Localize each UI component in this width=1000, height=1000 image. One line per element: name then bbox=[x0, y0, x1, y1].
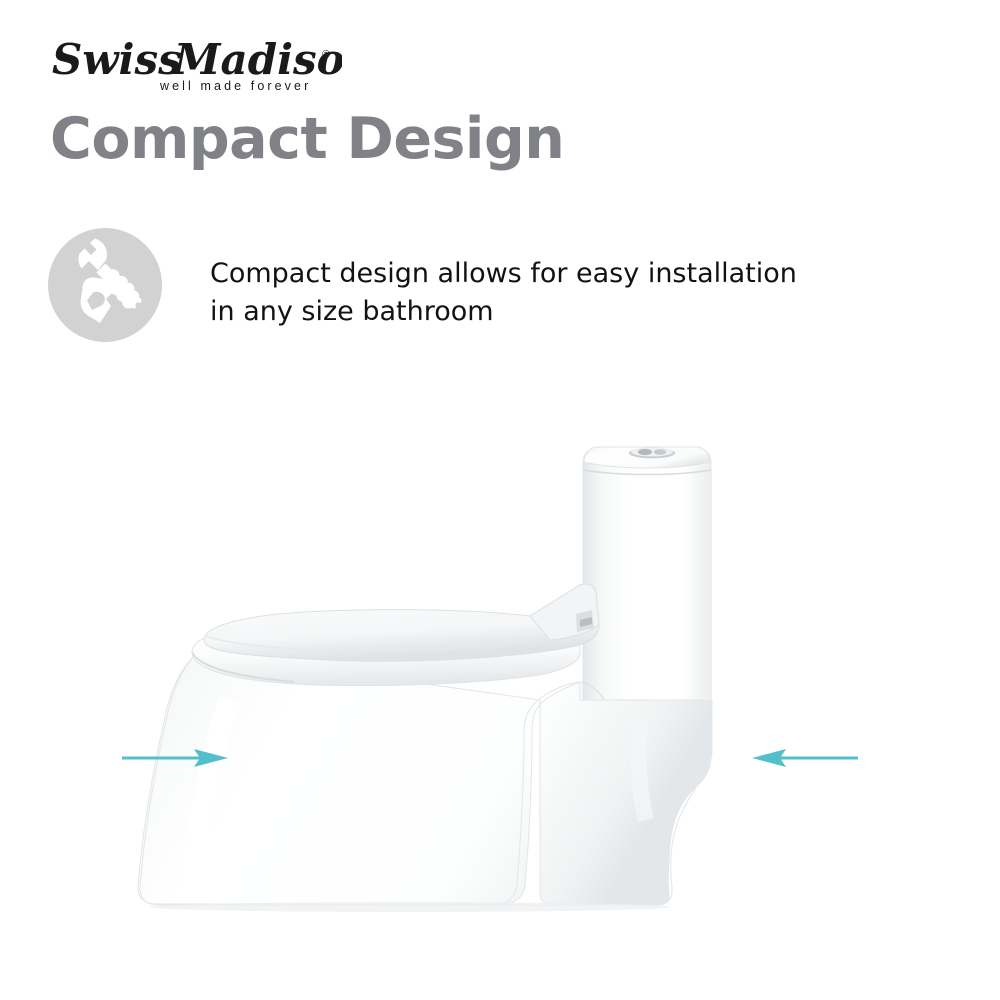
toilet-tank bbox=[583, 448, 711, 700]
brand-logo: Swiss Madison ® well made forever bbox=[52, 34, 342, 96]
feature-description: Compact design allows for easy installat… bbox=[162, 228, 797, 331]
feature-description-line-2: in any size bathroom bbox=[210, 296, 494, 327]
dimension-arrow-left bbox=[120, 744, 232, 772]
dimension-arrow-right bbox=[748, 744, 860, 772]
feature-icon-badge bbox=[48, 228, 162, 342]
registered-trademark-icon: ® bbox=[322, 49, 330, 61]
dual-flush-button[interactable] bbox=[629, 448, 675, 459]
floor-shadow bbox=[150, 902, 670, 912]
brand-name-part-1: Swiss bbox=[52, 35, 182, 84]
feature-row: Compact design allows for easy installat… bbox=[48, 228, 888, 342]
page-title: Compact Design bbox=[50, 106, 564, 172]
body-highlight-right bbox=[638, 720, 646, 820]
brand-name-part-2: Madison bbox=[172, 35, 342, 84]
feature-description-line-1: Compact design allows for easy installat… bbox=[210, 258, 797, 289]
hand-holding-wrench-icon bbox=[48, 228, 162, 342]
product-image bbox=[80, 400, 920, 960]
brand-tagline: well made forever bbox=[159, 79, 311, 93]
product-feature-page: Swiss Madison ® well made forever Compac… bbox=[0, 0, 1000, 1000]
